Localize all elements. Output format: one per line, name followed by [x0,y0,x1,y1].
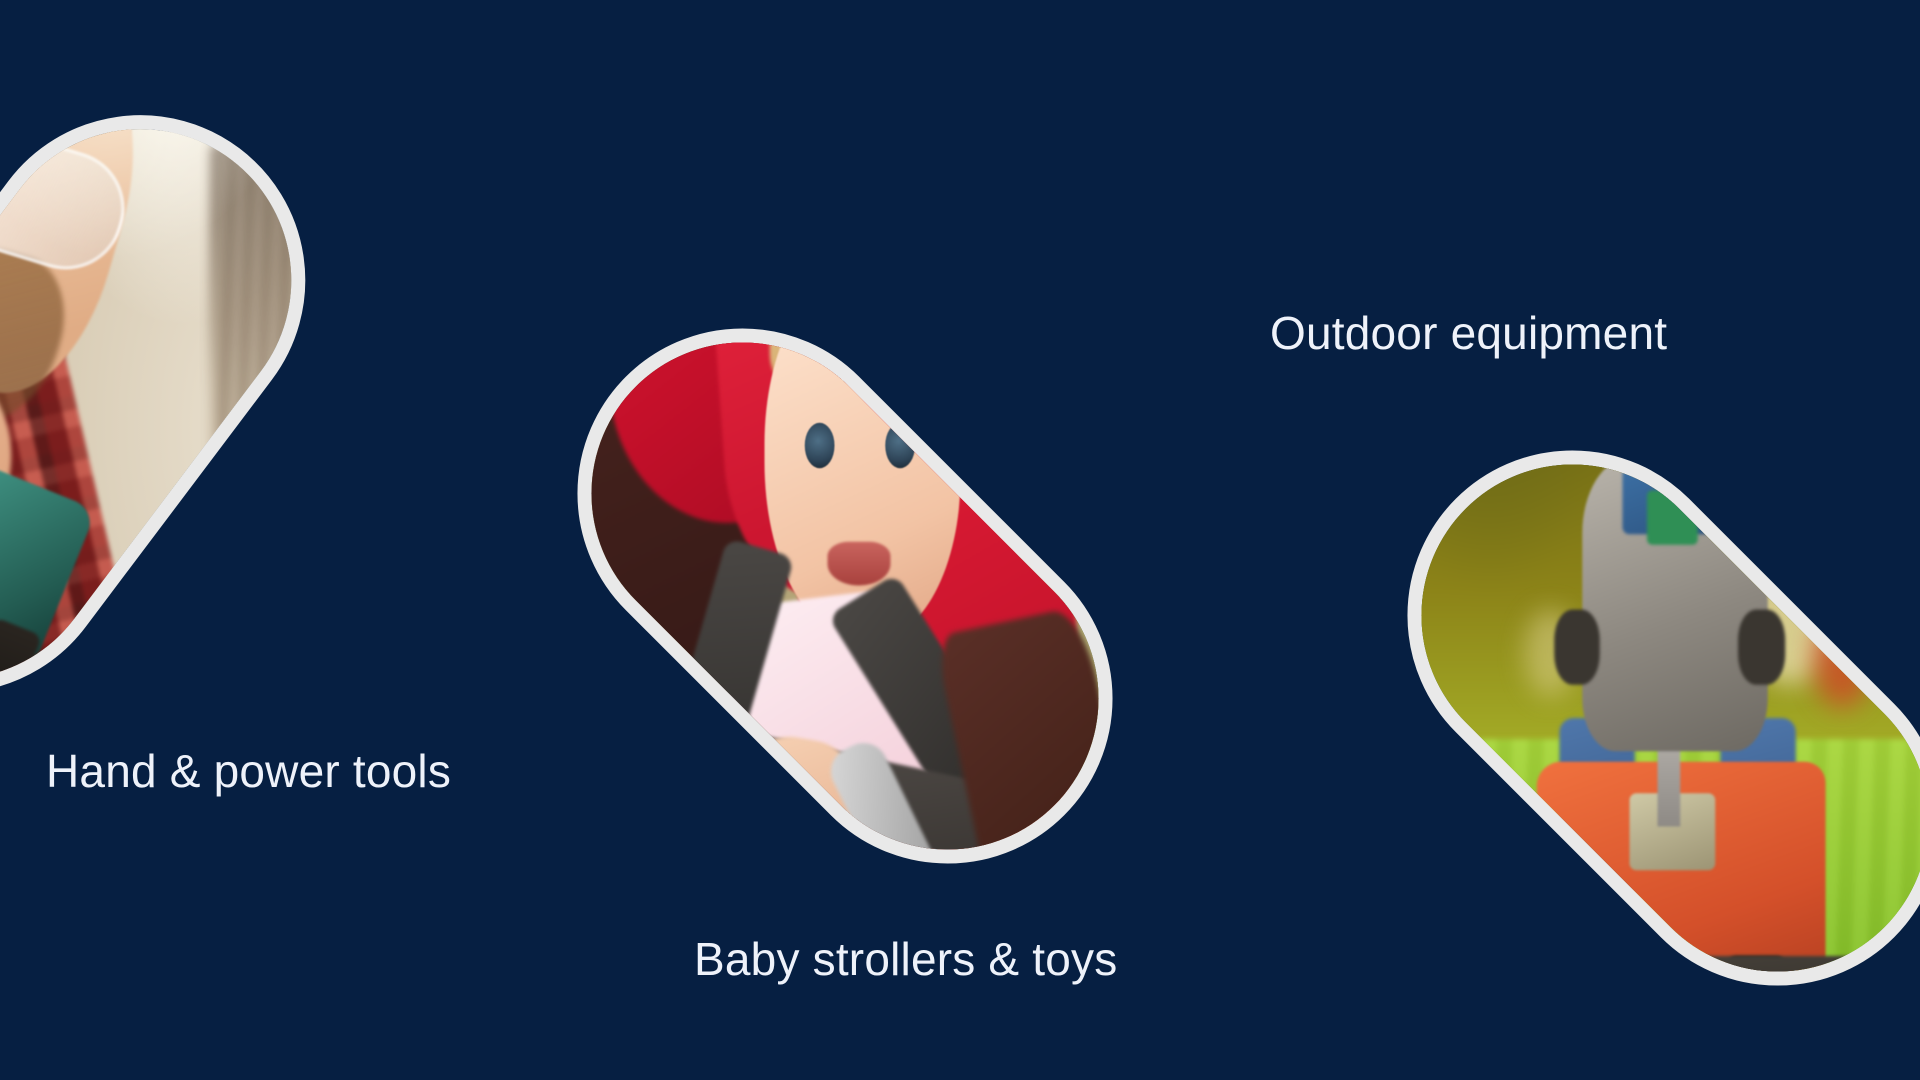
baby-hair-tuft [848,260,905,262]
mower-front-cowl [1583,978,1779,1053]
baby-eye-left [805,422,835,468]
rider-shirt [1646,490,1698,544]
stroller-scene [556,260,1134,932]
rider-jacket [1583,458,1768,751]
baby-mouth [828,542,892,585]
category-card-hand-power-tools[interactable] [0,49,371,759]
rider-boot-left [1548,957,1606,1022]
bokeh-red [1814,610,1872,708]
category-showcase-banner: Hand & power tools [0,0,1920,1080]
category-image-outdoor-equipment [1339,382,1920,1054]
mower-cutting-deck [1490,957,1871,1054]
rider-glove-right [1739,610,1785,686]
category-label-hand-power-tools: Hand & power tools [46,748,451,794]
workshop-scene [0,49,327,759]
lawn-mower-scene [1386,382,1920,1054]
tool-rack-icon [210,143,300,513]
category-card-outdoor-equipment[interactable] [1339,382,1920,1054]
drill-bit-icon [0,733,16,759]
baby-eye-right [885,422,915,468]
tool-rack-secondary [243,404,310,643]
rider-head [1629,382,1716,479]
category-label-outdoor-equipment: Outdoor equipment [1270,310,1667,356]
ear-defender-right [1710,382,1739,436]
drill-chuck [0,617,42,757]
category-image-hand-power-tools [0,49,371,759]
category-label-baby-strollers-toys: Baby strollers & toys [694,936,1117,982]
rider-glove-left [1554,610,1600,686]
ear-defender-left [1611,382,1640,436]
category-card-baby-strollers-toys[interactable] [509,260,1181,932]
category-image-baby-strollers-toys [509,260,1181,932]
